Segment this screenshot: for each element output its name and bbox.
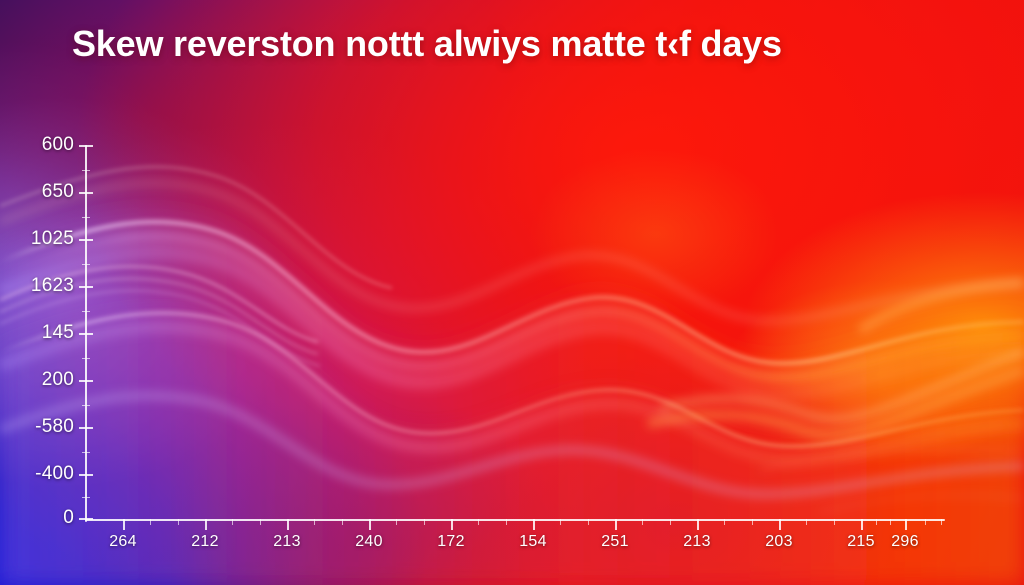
y-tick-mark [79, 333, 93, 335]
chart-canvas: Skew reverston nottt alwiys matte t‹f da… [0, 0, 1024, 585]
x-axis-tick-label: 203 [765, 533, 793, 551]
x-tick-mark-minor [150, 519, 151, 525]
y-tick-mark-minor [82, 405, 90, 406]
x-tick-mark-minor [232, 519, 233, 525]
y-tick-mark-minor [82, 170, 90, 171]
x-axis-tick-label: 215 [847, 533, 875, 551]
x-tick-mark [779, 519, 781, 530]
x-tick-mark [369, 519, 371, 530]
x-tick-mark-minor [314, 519, 315, 525]
x-tick-mark-minor [834, 519, 835, 525]
x-tick-mark-minor [178, 519, 179, 525]
y-tick-mark-minor [82, 497, 90, 498]
x-axis-tick-label: 172 [437, 533, 465, 551]
x-tick-mark-minor [478, 519, 479, 525]
x-tick-mark-minor [424, 519, 425, 525]
y-tick-mark [79, 239, 93, 241]
x-tick-mark-minor [806, 519, 807, 525]
x-tick-mark-minor [260, 519, 261, 525]
x-tick-mark-minor [941, 519, 942, 525]
x-tick-mark-minor [670, 519, 671, 525]
x-tick-mark [123, 519, 125, 530]
y-axis-tick-label: -400 [0, 463, 74, 485]
x-axis-tick-label: 213 [683, 533, 711, 551]
x-tick-mark-minor [506, 519, 507, 525]
y-tick-mark-minor [82, 217, 90, 218]
x-tick-mark [861, 519, 863, 530]
y-tick-mark-minor [82, 264, 90, 265]
y-tick-mark [79, 286, 93, 288]
x-axis-tick-label: 154 [519, 533, 547, 551]
x-tick-mark-minor [752, 519, 753, 525]
x-tick-mark-minor [342, 519, 343, 525]
x-tick-mark [905, 519, 907, 530]
x-tick-mark-minor [642, 519, 643, 525]
x-axis-tick-label: 264 [109, 533, 137, 551]
y-tick-mark [79, 145, 93, 147]
y-tick-mark-minor [82, 358, 90, 359]
x-tick-mark-minor [925, 519, 926, 525]
x-tick-mark [615, 519, 617, 530]
x-tick-mark [451, 519, 453, 530]
x-axis-tick-label: 213 [273, 533, 301, 551]
x-tick-mark [697, 519, 699, 530]
y-axis-tick-label: 1623 [0, 275, 74, 297]
y-tick-mark [79, 518, 93, 520]
y-tick-mark [79, 474, 93, 476]
x-tick-mark [287, 519, 289, 530]
x-tick-mark-minor [560, 519, 561, 525]
x-tick-mark-minor [588, 519, 589, 525]
x-axis-line [85, 519, 945, 521]
y-tick-mark [79, 427, 93, 429]
y-axis-tick-label: 0 [0, 507, 74, 529]
page-title: Skew reverston nottt alwiys matte t‹f da… [72, 23, 782, 65]
y-axis-tick-label: 200 [0, 369, 74, 391]
y-tick-mark [79, 380, 93, 382]
y-axis-tick-label: 145 [0, 322, 74, 344]
y-tick-mark-minor [82, 452, 90, 453]
y-axis-tick-label: -580 [0, 416, 74, 438]
x-tick-mark [205, 519, 207, 530]
x-tick-mark-minor [396, 519, 397, 525]
x-tick-mark [533, 519, 535, 530]
y-tick-mark-minor [82, 311, 90, 312]
y-tick-mark [79, 192, 93, 194]
x-axis-tick-label: 251 [601, 533, 629, 551]
y-axis-tick-label: 600 [0, 134, 74, 156]
y-axis-tick-label: 1025 [0, 228, 74, 250]
x-axis-tick-label: 240 [355, 533, 383, 551]
x-axis-tick-label: 296 [891, 533, 919, 551]
y-axis-tick-label: 650 [0, 181, 74, 203]
x-tick-mark-minor [876, 519, 877, 525]
x-tick-mark-minor [890, 519, 891, 525]
wave-ribbons [0, 0, 1024, 585]
x-tick-mark-minor [724, 519, 725, 525]
x-axis-tick-label: 212 [191, 533, 219, 551]
